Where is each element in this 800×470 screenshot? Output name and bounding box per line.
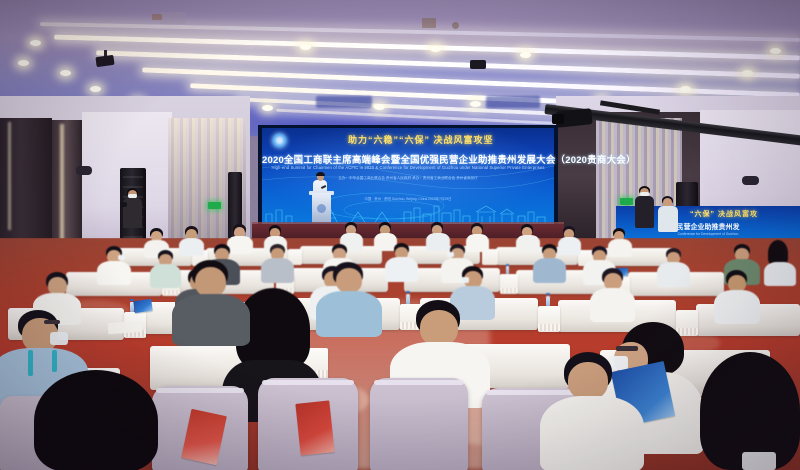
recessed-downlight [430,46,441,52]
recessed-downlight [470,101,481,107]
recessed-downlight [770,48,781,54]
table-lace-trim [538,324,560,331]
chair-top-trim [486,390,578,395]
recessed-downlight [30,40,41,46]
ceiling-vent-panel [316,96,372,108]
wall-speaker [76,166,92,175]
emergency-exit-sign [208,202,221,209]
chair-top-trim [262,380,354,385]
covered-banquet-chair [370,378,468,470]
recessed-downlight [262,105,273,111]
recessed-downlight [742,70,753,76]
recessed-downlight [300,44,311,50]
emergency-exit-sign [620,198,633,205]
screen-calligraphy-headline: 助力“六稳”“六保” 决战风富攻坚 [348,133,494,146]
recessed-downlight [520,52,531,58]
recessed-downlight [90,86,101,92]
wood-wall-panel [52,120,82,246]
guizhou-skyline-icon [262,198,554,224]
white-document [108,321,143,334]
pillar-accent-light [8,122,11,230]
recessed-downlight [374,104,385,110]
smartphone [742,452,776,470]
screen-footer-line: 中国 · 贵州 · 贵阳 Guizhou, Beijing, China 202… [262,196,554,201]
water-bottle [506,266,509,274]
recessed-downlight [680,86,691,92]
wall-accent-light [60,124,64,242]
chair-top-trim [374,380,464,385]
ceiling-fixture [422,18,436,28]
recessed-downlight [18,60,29,66]
banner-english-subtitle: Conference for Development of Guizhou [616,232,800,236]
bottle-cap [546,293,550,295]
bottle-cap [406,291,410,293]
acfic-emblem-icon [272,133,287,148]
ceiling-fixture [452,22,459,29]
bottle-cap [506,264,509,266]
ceiling-vent-panel [486,96,540,108]
ceiling-projector-icon [470,60,486,69]
banner-calligraphy: “六保” 决战风富攻 [690,209,758,219]
ceiling-hatch [160,12,186,24]
camera-lens-icon [552,114,564,124]
blue-conference-program [133,299,152,313]
screen-main-title: 2020全国工商联主席高端峰会暨全国优强民营企业助推贵州发展大会（2020贵商大… [262,152,554,166]
chair-top-trim [156,388,244,393]
red-conference-program [295,400,334,455]
table-lace-trim [500,288,518,293]
presenter-hair [316,172,325,176]
conference-hall-photo: 助力“六稳”“六保” 决战风富攻坚 2020全国工商联主席高端峰会暨全国优强民营… [0,0,800,470]
eyeglasses-icon [616,346,638,351]
podium-emblem-icon [317,204,326,213]
screen-english-subtitle: High-end Summit for Chairmen of the ACFI… [262,165,554,170]
eyeglasses-icon [44,320,60,324]
wall-speaker [742,176,759,185]
screen-organizer-line: 主办：中华全国工商业联合会 贵州省人民政府 承办：贵州省工商业联合会 贵州省商务… [262,176,554,181]
water-bottle [406,294,410,304]
water-bottle [546,296,550,306]
lanyard [28,350,33,376]
recessed-downlight [60,70,71,76]
ceiling-fixture [152,14,162,20]
lanyard [52,350,57,372]
